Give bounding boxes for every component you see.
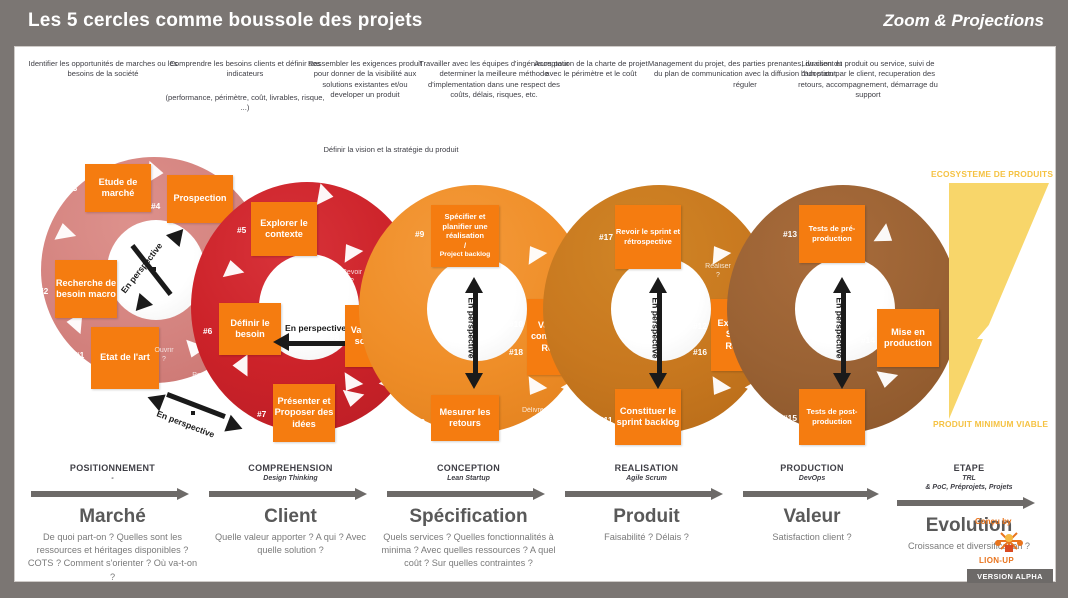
- stage-sub: Design Thinking: [203, 474, 378, 483]
- stage-caption: POSITIONNEMENT: [25, 463, 200, 473]
- stage-arrow-icon: [203, 488, 378, 500]
- perspective-label: En perspective: [119, 241, 165, 295]
- task-number-14: #14: [861, 335, 875, 345]
- task-label: Constituer le sprint backlog: [615, 406, 681, 429]
- stage-conception[interactable]: CONCEPTION Lean Startup Spécification Qu…: [381, 463, 556, 571]
- stage-caption: CONCEPTION: [381, 463, 556, 473]
- task-number-12: #12: [693, 321, 707, 331]
- task-sublabel2: Project backlog: [440, 250, 491, 260]
- stage-arrow-icon: [737, 488, 887, 500]
- perspective-label: En perspective: [651, 297, 661, 358]
- stage-production[interactable]: PRODUCTION DevOps Valeur Satisfaction cl…: [737, 463, 887, 544]
- task-box-17[interactable]: Revoir le sprint et rétrospective: [615, 205, 681, 269]
- task-box-4[interactable]: Prospection: [167, 175, 233, 223]
- task-number-7: #7: [257, 409, 266, 419]
- perspective-arrow-4: En perspective: [645, 277, 675, 389]
- slide-header: Les 5 cercles comme boussole des projets…: [0, 0, 1068, 46]
- stage-name: Valeur: [737, 506, 887, 528]
- task-label: Revoir le sprint et rétrospective: [615, 227, 681, 246]
- gate-delivrer: Délivrer?: [513, 407, 555, 424]
- task-box-13[interactable]: Tests de pré-production: [799, 205, 865, 263]
- stage-name: Spécification: [381, 506, 556, 528]
- flow-arrow-icon: [52, 221, 76, 240]
- stage-desc: Quels services ? Quelles fonctionnalités…: [381, 531, 556, 571]
- task-box-7[interactable]: Présenter et Proposer des idées: [273, 384, 335, 442]
- stage-arrow-icon: [381, 488, 556, 500]
- task-number-19: #19: [411, 417, 425, 427]
- gate-ouvrir: Ouvrir?: [143, 347, 185, 364]
- mvp-label: PRODUIT MINIMUM VIABLE: [933, 419, 1048, 429]
- stage-name: Client: [203, 506, 378, 528]
- task-label: Présenter et Proposer des idées: [273, 396, 335, 431]
- page-title: Les 5 cercles comme boussole des projets: [28, 10, 423, 32]
- task-label: Etude de marché: [85, 177, 151, 200]
- task-label: Définir le besoin: [219, 318, 281, 341]
- perspective-label: En perspective: [467, 297, 477, 358]
- top-note-2: Comprendre les besoins clients et défini…: [165, 59, 325, 80]
- task-box-19[interactable]: Mesurer les retours: [431, 395, 499, 441]
- top-note-7: Livraison du produit ou service, suivi d…: [793, 59, 943, 101]
- task-number-8: #8: [330, 332, 339, 342]
- task-box-6[interactable]: Définir le besoin: [219, 303, 281, 355]
- perspective-label: En perspective: [155, 408, 216, 439]
- stage-sub: TRL & PoC, Préprojets, Projets: [891, 474, 1047, 492]
- diagram-canvas: Identifier les opportunités de marches o…: [14, 46, 1056, 582]
- stage-comprehension[interactable]: COMPREHENSION Design Thinking Client Que…: [203, 463, 378, 557]
- slide-root: Les 5 cercles comme boussole des projets…: [0, 0, 1068, 598]
- task-number-5: #5: [237, 225, 246, 235]
- top-note-3: Rassembler les exigences produit pour do…: [305, 59, 425, 101]
- flow-arrow-icon: [874, 223, 899, 250]
- task-number-1: #1: [75, 350, 84, 360]
- top-note-5: Acceptation de la charte de projet avec …: [531, 59, 651, 80]
- stage-caption: ETAPE: [891, 463, 1047, 473]
- task-number-3: #3: [68, 183, 77, 193]
- stage-sub: Lean Startup: [381, 474, 556, 483]
- task-label: Mesurer les retours: [431, 407, 499, 430]
- stage-caption: COMPREHENSION: [203, 463, 378, 473]
- brand-label: LION-UP: [979, 556, 1014, 565]
- task-label: Spécifier et planifier une réalisation: [431, 212, 499, 241]
- top-note-2b: (performance, périmètre, coût, livrables…: [165, 93, 325, 114]
- stage-desc: De quoi part-on ? Quelles sont les resso…: [25, 531, 200, 584]
- task-number-2: #2: [39, 286, 48, 296]
- stage-positionnement[interactable]: POSITIONNEMENT - Marché De quoi part-on …: [25, 463, 200, 584]
- stage-sub: DevOps: [737, 474, 887, 483]
- task-box-14[interactable]: Mise en production: [877, 309, 939, 367]
- task-box-3[interactable]: Etude de marché: [85, 164, 151, 212]
- flow-arrow-icon: [874, 371, 898, 390]
- task-number-13: #13: [783, 229, 797, 239]
- task-number-15: #15: [783, 413, 797, 423]
- flow-arrow-icon: [220, 258, 245, 277]
- task-number-10: #10: [509, 319, 523, 329]
- perspective-arrow-3: En perspective: [461, 277, 491, 389]
- task-box-2[interactable]: Recherche de besoin macro: [55, 260, 117, 318]
- stage-arrow-icon: [559, 488, 734, 500]
- stage-sub: Agile Scrum: [559, 474, 734, 483]
- task-label: Mise en production: [877, 327, 939, 350]
- task-label: Explorer le contexte: [251, 218, 317, 241]
- task-label: Tests de post-production: [799, 407, 865, 426]
- concu-by-label: Conçu by: [975, 517, 1011, 526]
- task-number-17: #17: [599, 232, 613, 242]
- task-sublabel: /: [464, 241, 466, 251]
- task-number-18: #18: [509, 347, 523, 357]
- task-number-6: #6: [203, 326, 212, 336]
- lion-up-logo-icon: [987, 529, 1031, 557]
- flow-arrow-icon: [317, 183, 336, 207]
- stage-arrow-icon: [25, 488, 200, 500]
- task-box-5[interactable]: Explorer le contexte: [251, 202, 317, 256]
- header-subtitle: Zoom & Projections: [883, 11, 1044, 31]
- mvp-triangle: [945, 183, 1053, 421]
- top-note-1: Identifier les opportunités de marches o…: [27, 59, 179, 80]
- stage-realisation[interactable]: REALISATION Agile Scrum Produit Faisabil…: [559, 463, 734, 544]
- version-badge: VERSION ALPHA: [967, 569, 1053, 583]
- stage-desc: Quelle valeur apporter ? A qui ? Avec qu…: [203, 531, 378, 557]
- stage-desc: Satisfaction client ?: [737, 531, 887, 544]
- task-box-15[interactable]: Tests de post-production: [799, 389, 865, 445]
- stage-desc: Faisabilité ? Délais ?: [559, 531, 734, 544]
- vision-note: Définir la vision et la stratégie du pro…: [315, 145, 467, 155]
- task-label: Tests de pré-production: [799, 224, 865, 243]
- perspective-label: En perspective: [835, 297, 845, 358]
- stage-caption: REALISATION: [559, 463, 734, 473]
- stage-caption: PRODUCTION: [737, 463, 887, 473]
- task-number-16: #16: [693, 347, 707, 357]
- task-number-4: #4: [151, 201, 160, 211]
- task-number-11: #11: [599, 415, 613, 425]
- task-number-9: #9: [415, 229, 424, 239]
- stage-sub: -: [25, 474, 200, 483]
- stage-arrow-icon: [891, 497, 1047, 509]
- perspective-arrow-1: En perspective: [117, 225, 197, 317]
- ecosystem-label: ECOSYSTEME DE PRODUITS: [931, 169, 1053, 179]
- stage-name: Marché: [25, 506, 200, 528]
- perspective-arrow-5: En perspective: [829, 277, 859, 389]
- flow-arrow-icon: [233, 355, 248, 377]
- task-box-9[interactable]: Spécifier et planifier une réalisation /…: [431, 205, 499, 267]
- task-label: Recherche de besoin macro: [55, 278, 117, 301]
- task-box-11[interactable]: Constituer le sprint backlog: [615, 389, 681, 445]
- stage-name: Produit: [559, 506, 734, 528]
- task-label: Prospection: [173, 193, 226, 205]
